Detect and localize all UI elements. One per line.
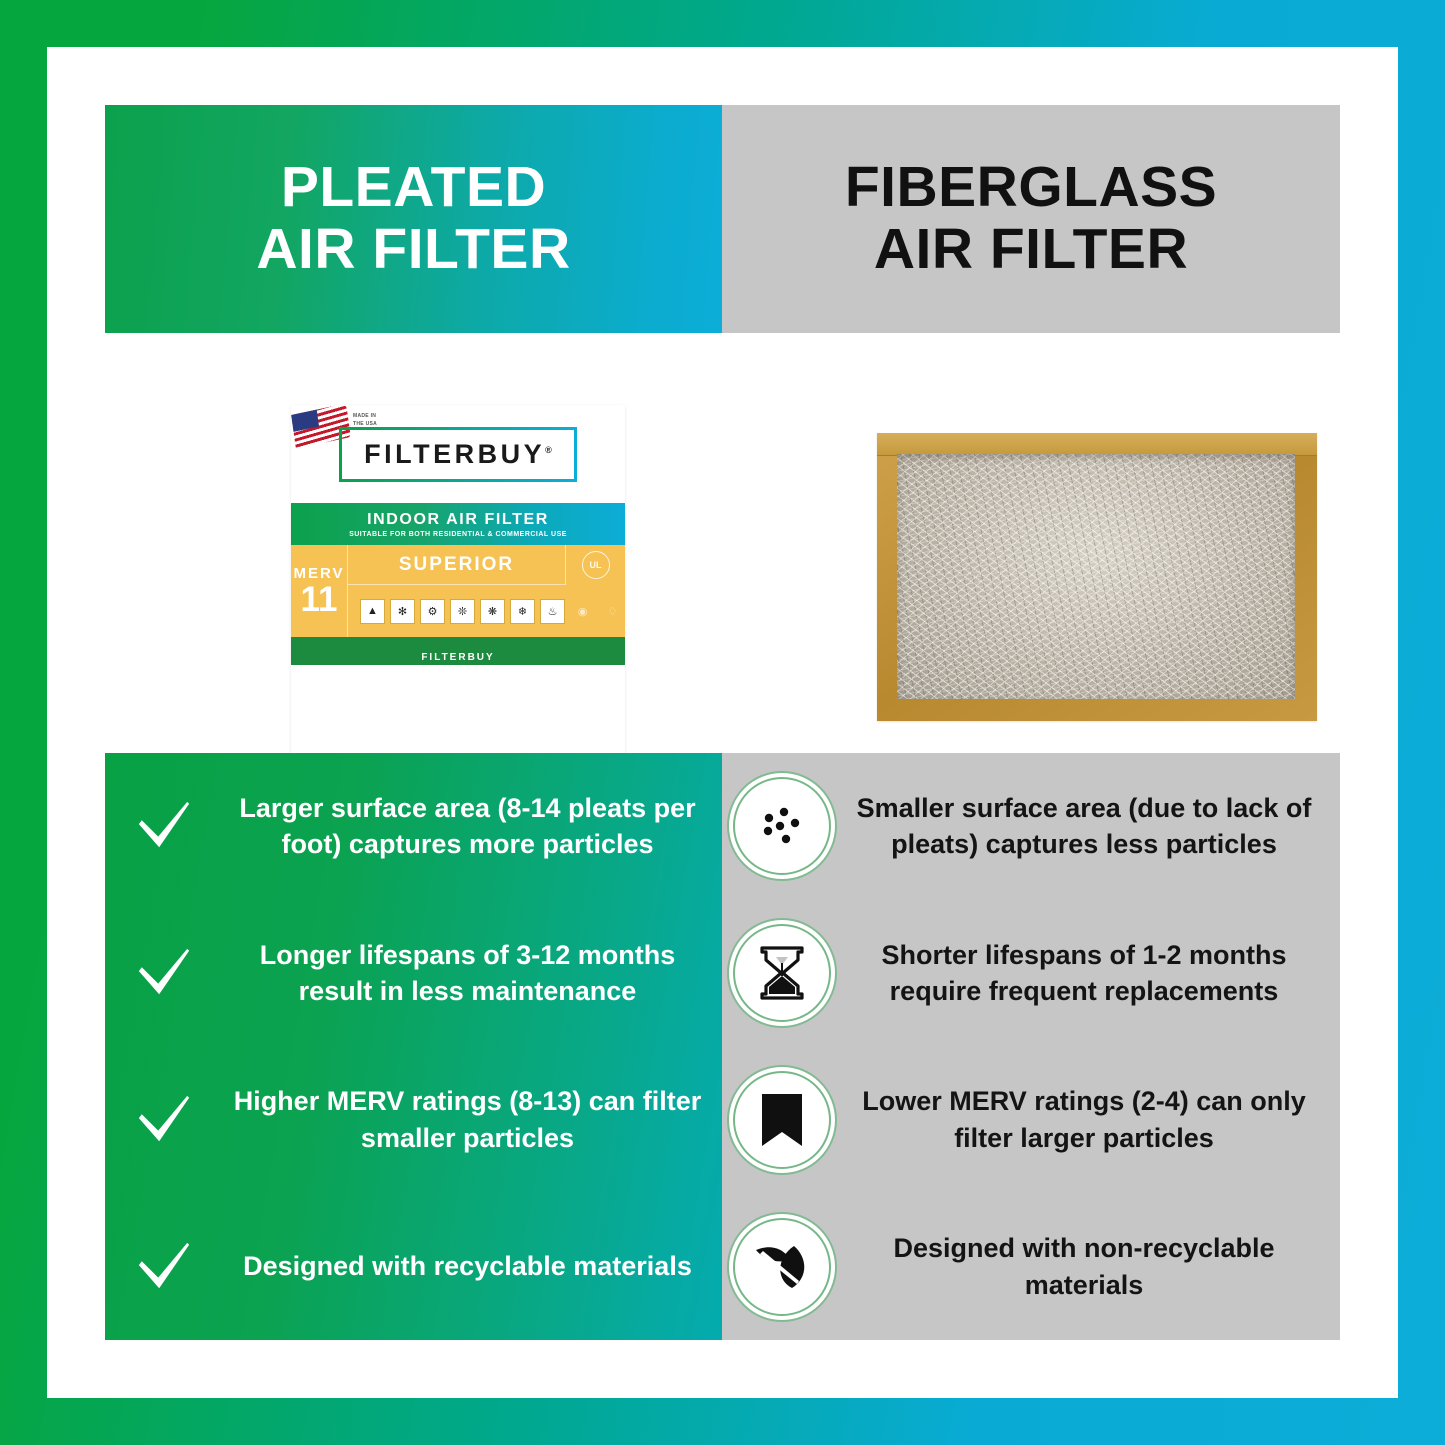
package-subtitle: SUITABLE FOR BOTH RESIDENTIAL & COMMERCI… (349, 531, 567, 538)
header-pleated-line2: AIR FILTER (256, 219, 570, 281)
bacteria-icon: ⚙ (420, 599, 445, 624)
bookmark-icon-badge (733, 1071, 831, 1169)
comparison-row: Higher MERV ratings (8-13) can filter sm… (105, 1047, 1340, 1194)
trademark-symbol: ® (545, 445, 552, 455)
fiberglass-drawback-text: Designed with non-recyclable materials (842, 1230, 1340, 1303)
smoke-icon: ♨ (540, 599, 565, 624)
hourglass-icon-badge (733, 924, 831, 1022)
pleated-filter-package: MADE IN THE USA FILTERBUY® INDOOR AIR FI… (291, 405, 625, 756)
pleated-benefit-text: Higher MERV ratings (8-13) can filter sm… (223, 1083, 722, 1156)
infographic-canvas: PLEATED AIR FILTER FIBERGLASS AIR FILTER (47, 47, 1398, 1398)
mold-icon: ❋ (480, 599, 505, 624)
check-icon (135, 1238, 193, 1296)
hourglass-icon (754, 943, 810, 1003)
package-spec-right: SUPERIOR UL ▲ ✻ ⚙ ❊ ❋ (348, 545, 625, 637)
pleated-benefit-text: Longer lifespans of 3-12 months result i… (223, 937, 722, 1010)
pleated-benefit-text: Designed with recyclable materials (223, 1248, 722, 1284)
leaf-icon-badge (733, 1218, 831, 1316)
dust-icon: ▲ (360, 599, 385, 624)
row-icon-cell (722, 1071, 842, 1169)
check-icon (135, 944, 193, 1002)
fiberglass-mesh-media (897, 454, 1295, 699)
leaf-icon (750, 1236, 814, 1298)
merv-value: 11 (301, 582, 338, 617)
certification-seal: UL (565, 545, 625, 585)
pleated-media-area: FILTERBUY (291, 637, 625, 665)
check-icon (135, 1091, 193, 1149)
package-header: MADE IN THE USA FILTERBUY® (291, 405, 625, 503)
comparison-row: Larger surface area (8-14 pleats per foo… (105, 753, 1340, 900)
comparison-row: Longer lifespans of 3-12 months result i… (105, 900, 1340, 1047)
pleated-benefit-text: Larger surface area (8-14 pleats per foo… (223, 790, 722, 863)
header-band: PLEATED AIR FILTER FIBERGLASS AIR FILTER (105, 105, 1340, 333)
package-footer-brand: FILTERBUY (291, 652, 625, 663)
grade-row: SUPERIOR UL (348, 545, 625, 585)
check-cell (105, 944, 223, 1002)
bookmark-icon (758, 1090, 806, 1150)
filterbuy-brand-text: FILTERBUY (364, 439, 545, 469)
lint-icon: ◉ (570, 599, 595, 624)
check-cell (105, 1091, 223, 1149)
fiberglass-filter-product-image (877, 433, 1317, 721)
header-fiberglass-line1: FIBERGLASS (845, 155, 1217, 219)
particles-icon (751, 795, 813, 857)
insect-icon: ✻ (390, 599, 415, 624)
header-pleated-line1: PLEATED (281, 155, 546, 219)
indoor-air-filter-label: INDOOR AIR FILTER (367, 511, 549, 529)
header-fiberglass-panel: FIBERGLASS AIR FILTER (722, 105, 1340, 333)
grade-label: SUPERIOR (348, 545, 565, 585)
seal-icon: UL (582, 551, 610, 579)
header-pleated-panel: PLEATED AIR FILTER (105, 105, 722, 333)
row-icon-cell (722, 924, 842, 1022)
comparison-section: Larger surface area (8-14 pleats per foo… (105, 753, 1340, 1340)
particles-icon-badge (733, 777, 831, 875)
pet-dander-icon: ❄ (510, 599, 535, 624)
infographic-root: PLEATED AIR FILTER FIBERGLASS AIR FILTER (0, 0, 1445, 1445)
row-icon-cell (722, 1218, 842, 1316)
package-spec-band: MERV 11 SUPERIOR UL ▲ (291, 545, 625, 637)
pollen-icon: ❊ (450, 599, 475, 624)
merv-badge: MERV 11 (291, 545, 348, 637)
header-fiberglass-title: FIBERGLASS AIR FILTER (845, 157, 1217, 280)
spore-icon: ♢ (600, 599, 625, 624)
comparison-row: Designed with recyclable materials Desig… (105, 1193, 1340, 1340)
fiberglass-drawback-text: Shorter lifespans of 1-2 months require … (842, 937, 1340, 1010)
made-in-line1: MADE IN (353, 413, 377, 421)
check-icon (135, 797, 193, 855)
product-images-section: MADE IN THE USA FILTERBUY® INDOOR AIR FI… (105, 333, 1340, 753)
filterbuy-logo: FILTERBUY® (339, 427, 577, 482)
pleated-filter-product-image: MADE IN THE USA FILTERBUY® INDOOR AIR FI… (291, 405, 625, 756)
check-cell (105, 797, 223, 855)
header-pleated-title: PLEATED AIR FILTER (256, 157, 570, 280)
feature-icons-row: ▲ ✻ ⚙ ❊ ❋ ❄ ♨ ◉ ♢ (348, 585, 625, 637)
fiberglass-drawback-text: Lower MERV ratings (2-4) can only filter… (842, 1083, 1340, 1156)
header-fiberglass-line2: AIR FILTER (845, 219, 1217, 281)
package-indoor-band: INDOOR AIR FILTER SUITABLE FOR BOTH RESI… (291, 503, 625, 545)
fiberglass-drawback-text: Smaller surface area (due to lack of ple… (842, 790, 1340, 863)
check-cell (105, 1238, 223, 1296)
comparison-rows: Larger surface area (8-14 pleats per foo… (105, 753, 1340, 1340)
row-icon-cell (722, 777, 842, 875)
